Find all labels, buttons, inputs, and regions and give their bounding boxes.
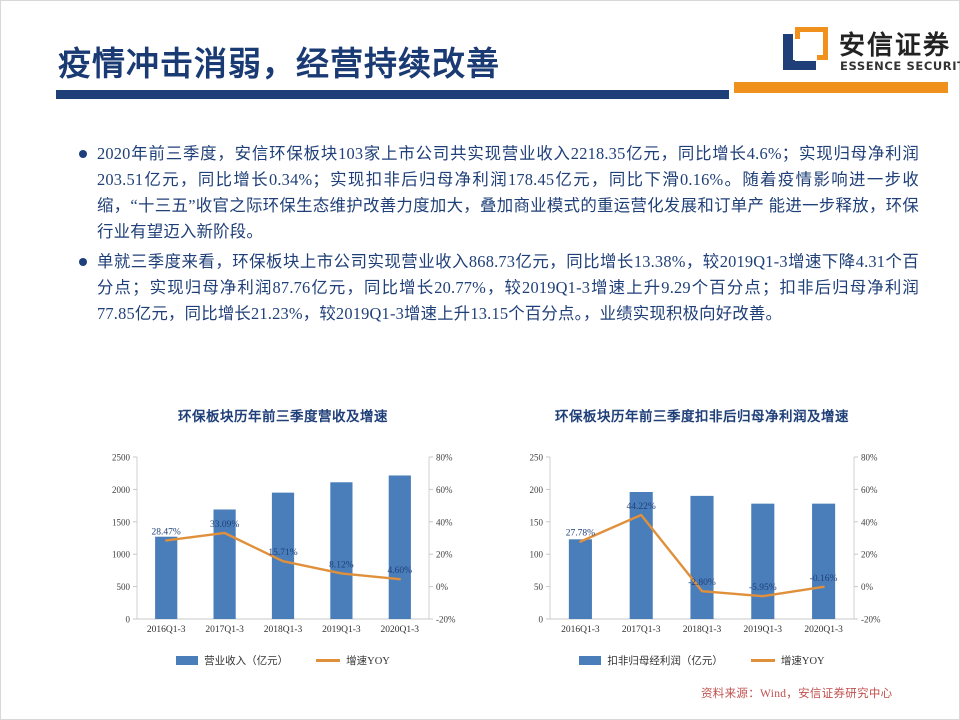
y-axis-tick-label: 1000 xyxy=(112,550,131,560)
page-title: 疫情冲击消弱，经营持续改善 xyxy=(58,37,500,85)
legend-label: 增速YOY xyxy=(781,653,825,668)
y2-axis-tick-label: 60% xyxy=(436,485,453,495)
body-text: 2020年前三季度，安信环保板块103家上市公司共实现营业收入2218.35亿元… xyxy=(79,141,919,331)
x-axis-tick-label: 2018Q1-3 xyxy=(683,625,722,635)
bullet-item: 单就三季度来看，环保板块上市公司实现营业收入868.73亿元，同比增长13.38… xyxy=(79,249,919,327)
chart-bar xyxy=(155,537,177,619)
bullet-dot-icon xyxy=(79,258,87,266)
y2-axis-tick-label: 80% xyxy=(861,453,878,463)
chart-plot-area: 05001000150020002500-20%0%20%40%60%80%28… xyxy=(93,447,473,647)
chart-plot-area: 050100150200250-20%0%20%40%60%80%27.78%4… xyxy=(506,447,898,647)
data-point-label: -0.16% xyxy=(810,574,838,584)
slide-header: 疫情冲击消弱，经营持续改善 安信证券 ESSENCE SECURITIES xyxy=(1,1,960,111)
bullet-paragraph: 2020年前三季度，安信环保板块103家上市公司共实现营业收入2218.35亿元… xyxy=(97,141,919,245)
y-axis-tick-label: 500 xyxy=(117,582,131,592)
legend-line-swatch-icon xyxy=(316,659,340,662)
y-axis-tick-label: 250 xyxy=(530,453,544,463)
logo-name-cn: 安信证券 xyxy=(839,25,951,62)
chart-legend: 营业收入（亿元） 增速YOY xyxy=(93,653,473,668)
x-axis-tick-label: 2019Q1-3 xyxy=(744,625,783,635)
data-point-label: -5.95% xyxy=(749,583,777,593)
legend-item-bar: 扣非归母经利润（亿元） xyxy=(579,653,723,668)
y-axis-tick-label: 1500 xyxy=(112,517,131,527)
y2-axis-tick-label: 0% xyxy=(436,582,449,592)
data-point-label: 28.47% xyxy=(152,527,181,537)
y2-axis-tick-label: 60% xyxy=(861,485,878,495)
legend-bar-swatch-icon xyxy=(176,656,198,665)
logo-name-en: ESSENCE SECURITIES xyxy=(840,59,960,73)
chart-revenue: 环保板块历年前三季度营收及增速 05001000150020002500-20%… xyxy=(93,405,473,668)
legend-line-swatch-icon xyxy=(751,659,775,662)
legend-item-line: 增速YOY xyxy=(751,653,825,668)
y-axis-tick-label: 50 xyxy=(534,582,544,592)
y2-axis-tick-label: 80% xyxy=(436,453,453,463)
bullet-paragraph: 单就三季度来看，环保板块上市公司实现营业收入868.73亿元，同比增长13.38… xyxy=(97,249,919,327)
x-axis-tick-label: 2019Q1-3 xyxy=(322,625,361,635)
chart-legend: 扣非归母经利润（亿元） 增速YOY xyxy=(506,653,898,668)
x-axis-tick-label: 2017Q1-3 xyxy=(205,625,244,635)
y2-axis-tick-label: 20% xyxy=(861,550,878,560)
title-rule-blue xyxy=(56,90,729,99)
chart-svg: 050100150200250-20%0%20%40%60%80%27.78%4… xyxy=(506,447,898,647)
y-axis-tick-label: 200 xyxy=(530,485,544,495)
bullet-item: 2020年前三季度，安信环保板块103家上市公司共实现营业收入2218.35亿元… xyxy=(79,141,919,245)
chart-title: 环保板块历年前三季度扣非后归母净利润及增速 xyxy=(506,405,898,425)
data-point-label: 15.71% xyxy=(268,548,297,558)
chart-svg: 05001000150020002500-20%0%20%40%60%80%28… xyxy=(93,447,473,647)
chart-bar xyxy=(330,482,352,619)
title-rule-orange xyxy=(734,82,948,93)
data-point-label: 33.09% xyxy=(210,520,239,530)
legend-label: 扣非归母经利润（亿元） xyxy=(607,653,723,668)
y2-axis-tick-label: 40% xyxy=(436,517,453,527)
legend-label: 增速YOY xyxy=(346,653,390,668)
data-point-label: 44.22% xyxy=(627,502,656,512)
chart-title: 环保板块历年前三季度营收及增速 xyxy=(93,405,473,425)
data-point-label: 27.78% xyxy=(566,529,595,539)
y-axis-tick-label: 100 xyxy=(530,550,544,560)
data-point-label: -2.80% xyxy=(688,578,716,588)
legend-item-line: 增速YOY xyxy=(316,653,390,668)
x-axis-tick-label: 2020Q1-3 xyxy=(381,625,420,635)
logo-mark-icon xyxy=(783,27,829,71)
y2-axis-tick-label: 20% xyxy=(436,550,453,560)
y-axis-tick-label: 0 xyxy=(126,615,131,625)
chart-deducted-profit: 环保板块历年前三季度扣非后归母净利润及增速 050100150200250-20… xyxy=(506,405,898,668)
y2-axis-tick-label: 0% xyxy=(861,582,874,592)
chart-bar xyxy=(569,539,592,619)
x-axis-tick-label: 2020Q1-3 xyxy=(804,625,843,635)
source-note: 资料来源：Wind，安信证券研究中心 xyxy=(701,685,893,701)
chart-bar xyxy=(751,504,774,619)
bullet-dot-icon xyxy=(79,150,87,158)
chart-bar xyxy=(812,504,835,619)
chart-bar xyxy=(690,496,713,619)
y2-axis-tick-label: 40% xyxy=(861,517,878,527)
y-axis-tick-label: 0 xyxy=(539,615,544,625)
y-axis-tick-label: 2000 xyxy=(112,485,131,495)
data-point-label: 8.12% xyxy=(329,560,354,570)
y-axis-tick-label: 2500 xyxy=(112,453,131,463)
company-logo: 安信证券 ESSENCE SECURITIES xyxy=(783,25,953,77)
y-axis-tick-label: 150 xyxy=(530,517,544,527)
x-axis-tick-label: 2016Q1-3 xyxy=(561,625,600,635)
x-axis-tick-label: 2017Q1-3 xyxy=(622,625,661,635)
data-point-label: 4.60% xyxy=(388,566,413,576)
legend-bar-swatch-icon xyxy=(579,656,601,665)
legend-label: 营业收入（亿元） xyxy=(204,653,288,668)
y2-axis-tick-label: -20% xyxy=(436,615,456,625)
x-axis-tick-label: 2016Q1-3 xyxy=(147,625,186,635)
chart-bar xyxy=(389,475,411,619)
logo-notch xyxy=(795,39,817,61)
y2-axis-tick-label: -20% xyxy=(861,615,881,625)
x-axis-tick-label: 2018Q1-3 xyxy=(264,625,303,635)
legend-item-bar: 营业收入（亿元） xyxy=(176,653,288,668)
